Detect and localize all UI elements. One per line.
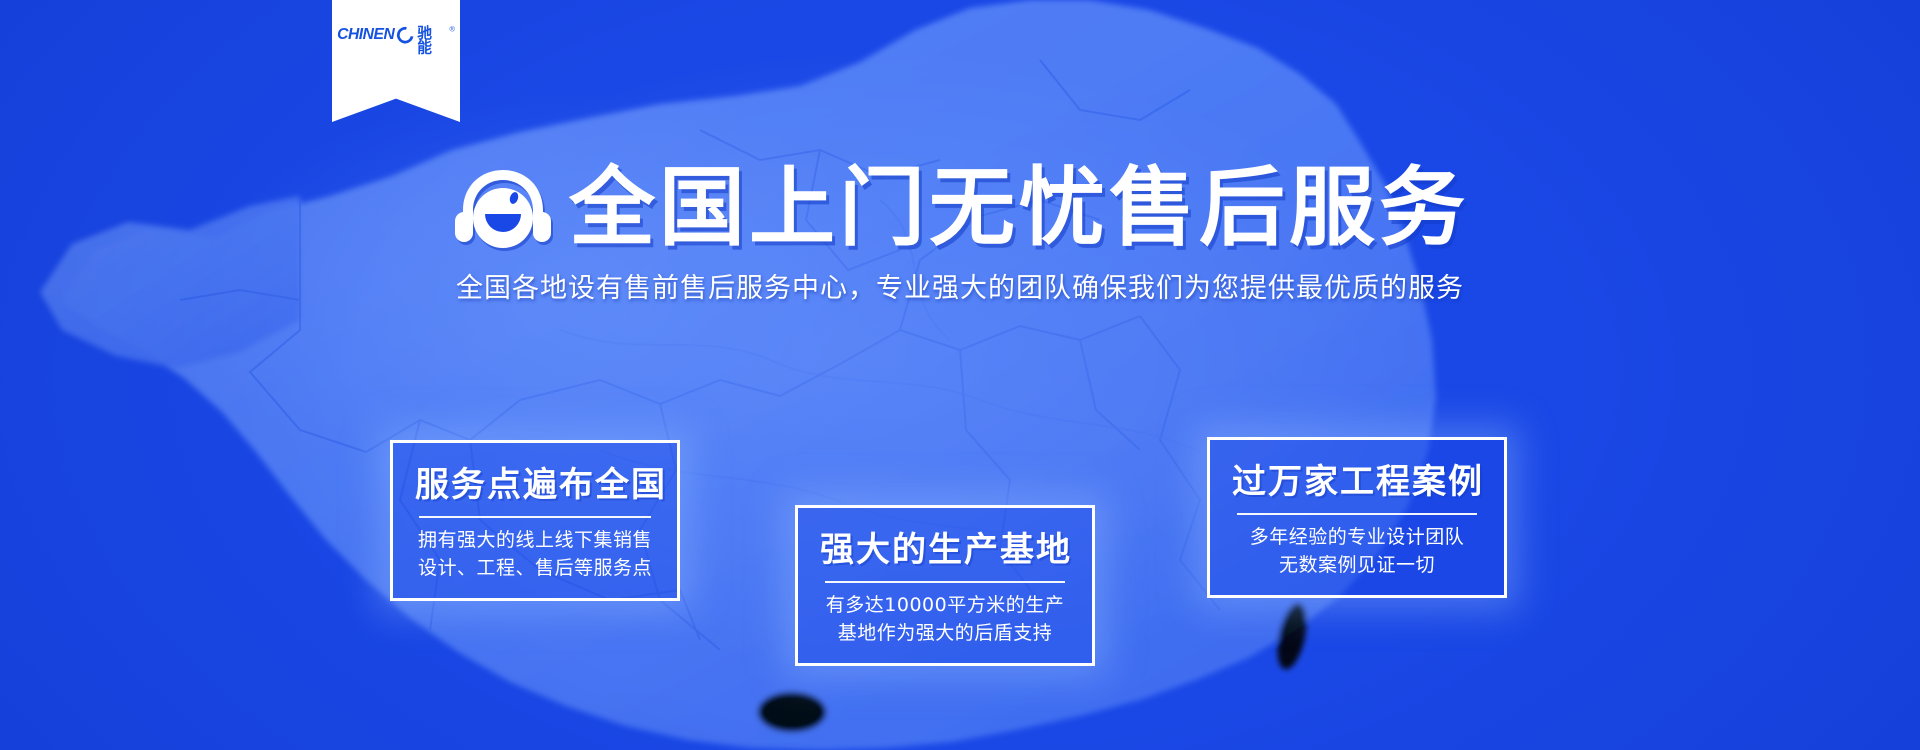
logo-ribbon: CHINEN 驰能 ® <box>332 0 460 122</box>
page-subtitle: 全国各地设有售前售后服务中心，专业强大的团队确保我们为您提供最优质的服务 <box>0 272 1920 306</box>
feature-divider <box>419 516 651 518</box>
brand-logo: CHINEN 驰能 ® <box>337 26 455 55</box>
headline-row: 全国上门无忧售后服务 <box>0 158 1920 258</box>
registered-trademark-icon: ® <box>449 26 454 33</box>
customer-service-headset-icon <box>451 162 555 258</box>
feature-desc-line-1: 拥有强大的线上线下集销售 <box>415 527 655 555</box>
feature-divider <box>1237 513 1477 515</box>
logo-chinese-text: 驰能 <box>417 26 446 55</box>
feature-desc-line-1: 多年经验的专业设计团队 <box>1232 524 1482 552</box>
feature-card-production-base: 强大的生产基地 有多达10000平方米的生产 基地作为强大的后盾支持 <box>795 505 1095 666</box>
china-landmass <box>40 0 1436 750</box>
page-title: 全国上门无忧售后服务 <box>569 165 1469 251</box>
chineng-g-mark-icon <box>394 24 417 47</box>
logo-latin-text: CHINEN <box>337 26 394 42</box>
feature-title: 过万家工程案例 <box>1232 454 1482 503</box>
service-banner: CHINEN 驰能 ® 全国上门无忧售后服务 全国各地设有售前售后服务中心，专业… <box>0 0 1920 750</box>
feature-desc-line-1: 有多达10000平方米的生产 <box>820 592 1070 620</box>
feature-title: 强大的生产基地 <box>820 522 1070 571</box>
feature-desc-line-2: 无数案例见证一切 <box>1232 552 1482 580</box>
feature-desc-line-2: 基地作为强大的后盾支持 <box>820 620 1070 648</box>
feature-card-project-cases: 过万家工程案例 多年经验的专业设计团队 无数案例见证一切 <box>1207 437 1507 598</box>
feature-divider <box>825 581 1065 583</box>
feature-title: 服务点遍布全国 <box>415 457 655 506</box>
feature-desc-line-2: 设计、工程、售后等服务点 <box>415 555 655 583</box>
feature-card-service-points: 服务点遍布全国 拥有强大的线上线下集销售 设计、工程、售后等服务点 <box>390 440 680 601</box>
